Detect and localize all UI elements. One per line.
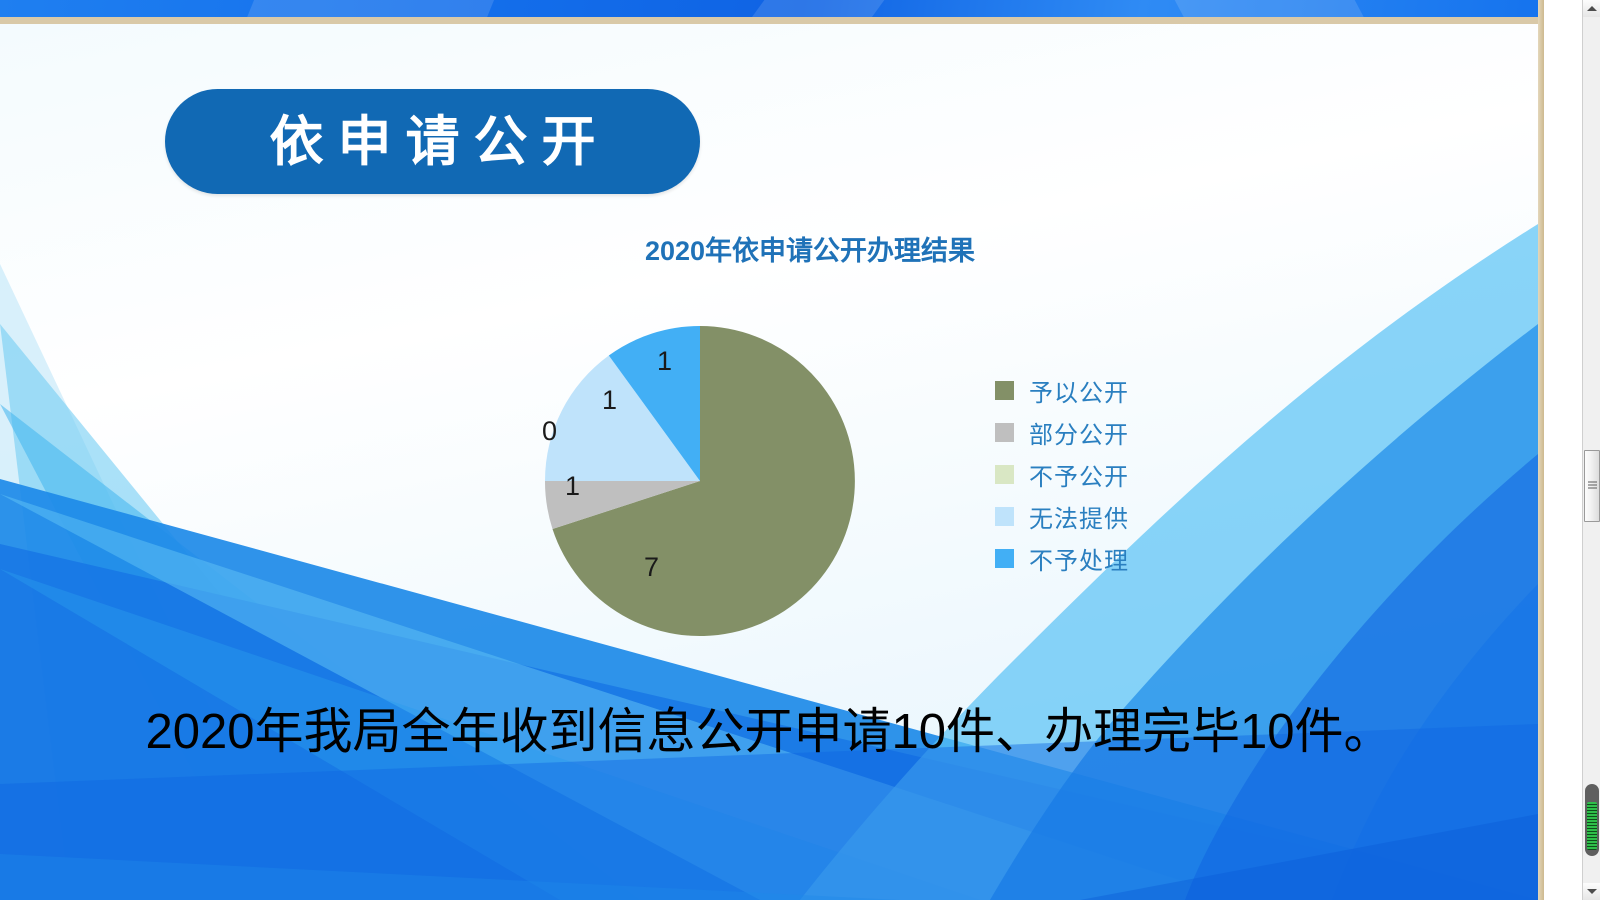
legend-swatch — [995, 507, 1014, 526]
legend-label: 不予处理 — [1029, 541, 1129, 576]
page-position-marker-fill — [1587, 802, 1597, 850]
pie-data-label: 1 — [602, 387, 617, 414]
slide-divider — [0, 17, 1543, 24]
previous-slide-edge — [0, 0, 1543, 17]
scroll-up-button[interactable] — [1583, 0, 1600, 17]
scroll-thumb[interactable] — [1584, 450, 1600, 522]
slide-caption: 2020年我局全年收到信息公开申请10件、办理完毕10件。 — [0, 692, 1538, 763]
legend-swatch — [995, 465, 1014, 484]
legend-item-wu-fa-ti-gong: 无法提供 — [995, 495, 1185, 537]
legend-label: 无法提供 — [1029, 499, 1129, 534]
slide-right-border — [1538, 0, 1544, 900]
pie-chart-block: 2020年依申请公开办理结果 7 1 0 — [430, 229, 1190, 659]
slide-viewer: 依申请公开 2020年依申请公开办理结果 — [0, 0, 1600, 900]
pie-data-label: 0 — [542, 418, 557, 445]
legend-swatch — [995, 423, 1014, 442]
previous-slide-wave — [1169, 0, 1370, 17]
scroll-thumb-grip-icon — [1588, 482, 1597, 491]
slide-title-text: 依申请公开 — [256, 115, 610, 169]
legend-label: 部分公开 — [1029, 415, 1129, 450]
page-position-marker[interactable] — [1585, 784, 1599, 856]
legend-label: 予以公开 — [1029, 373, 1129, 408]
previous-slide-wave — [745, 0, 894, 17]
pie-data-label: 7 — [644, 554, 659, 581]
legend-label: 不予公开 — [1029, 457, 1129, 492]
pie-chart: 7 1 0 1 1 — [530, 311, 870, 651]
legend-item-yu-yi-gong-kai: 予以公开 — [995, 369, 1185, 411]
previous-slide-wave — [243, 0, 498, 17]
legend-swatch — [995, 381, 1014, 400]
scroll-down-button[interactable] — [1583, 883, 1600, 900]
slide-title-pill: 依申请公开 — [165, 89, 700, 194]
vertical-scrollbar[interactable] — [1582, 0, 1600, 900]
scroll-up-arrow-icon — [1587, 6, 1597, 11]
scroll-down-arrow-icon — [1587, 889, 1597, 894]
slide-page: 依申请公开 2020年依申请公开办理结果 — [0, 24, 1538, 900]
legend-item-bu-yu-chu-li: 不予处理 — [995, 537, 1185, 579]
legend-item-bu-yu-gong-kai: 不予公开 — [995, 453, 1185, 495]
legend-item-bu-fen-gong-kai: 部分公开 — [995, 411, 1185, 453]
chart-legend: 予以公开 部分公开 不予公开 无法提供 不予处理 — [995, 369, 1185, 579]
chart-title: 2020年依申请公开办理结果 — [430, 229, 1190, 268]
pie-data-label: 1 — [565, 473, 580, 500]
pie-data-label: 1 — [657, 348, 672, 375]
legend-swatch — [995, 549, 1014, 568]
